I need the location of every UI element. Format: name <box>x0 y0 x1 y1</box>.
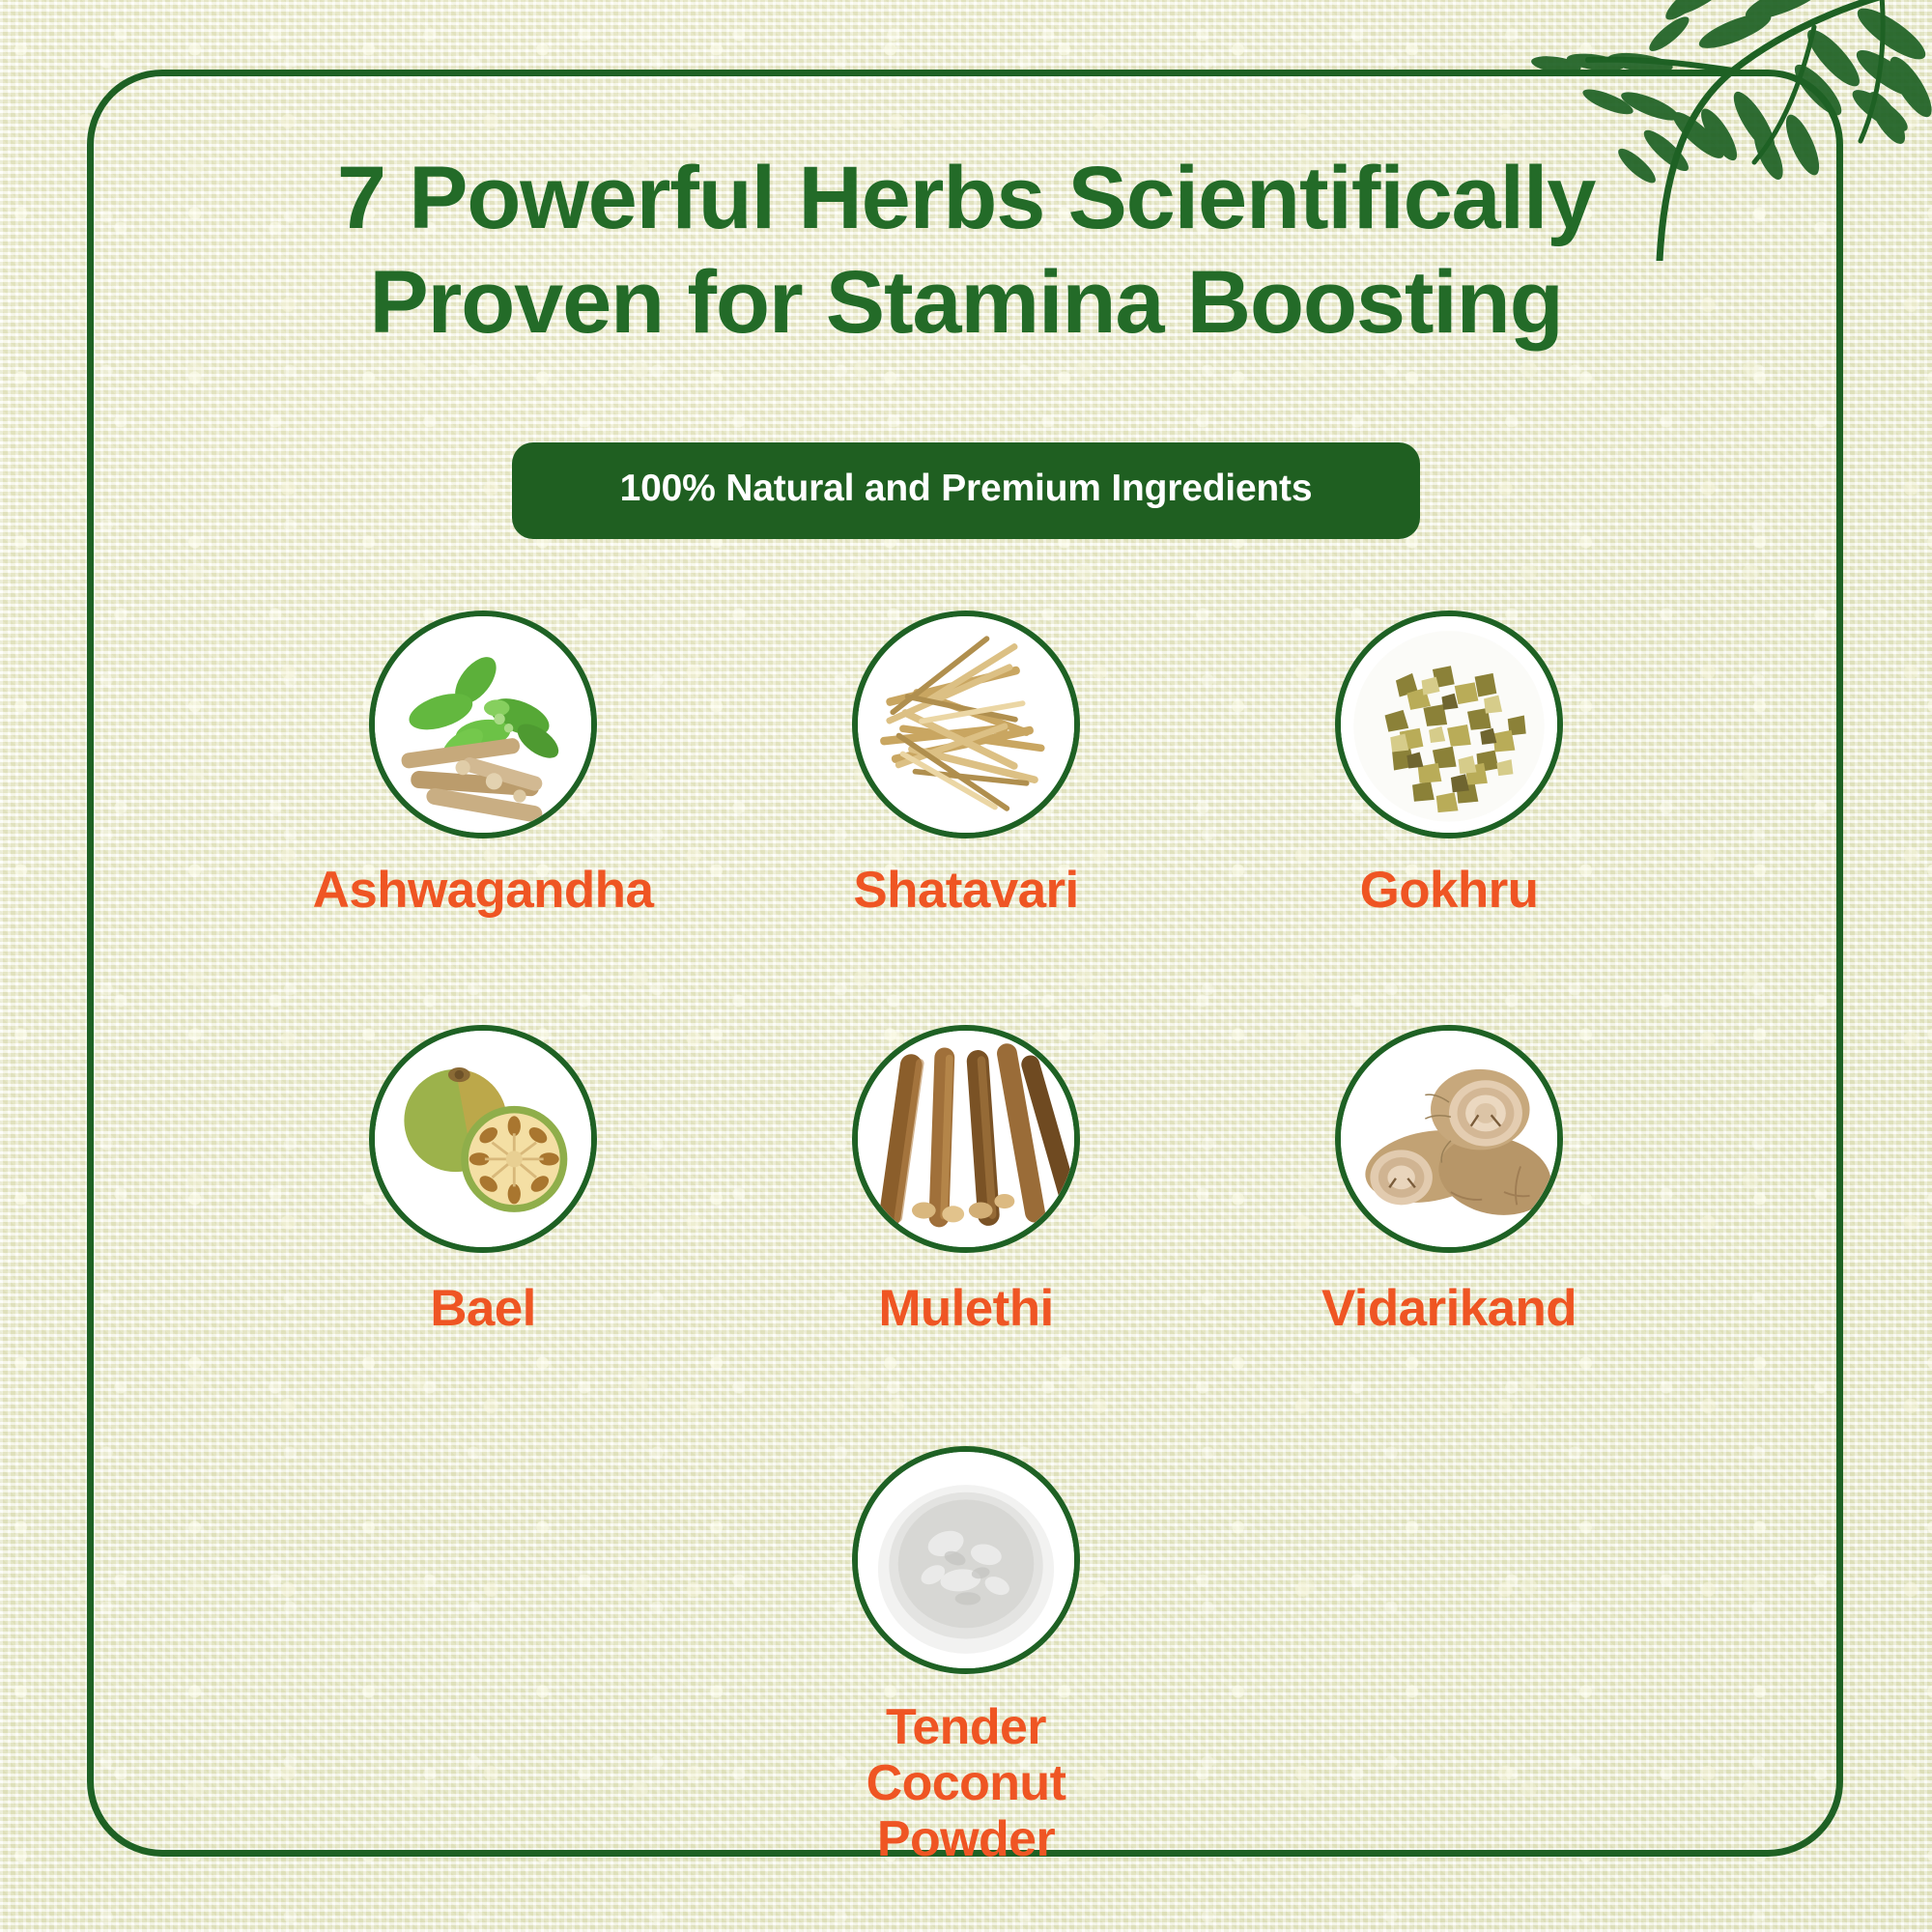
page-title: 7 Powerful Herbs Scientifically Proven f… <box>97 147 1835 355</box>
herb-item-gokhru: Gokhru <box>1285 611 1613 919</box>
herb-label-line-1: Tender Coconut <box>867 1699 1066 1811</box>
herb-item-mulethi: Mulethi <box>802 1025 1130 1337</box>
bael-fruit-whole-and-halved-image <box>375 1031 591 1247</box>
gokhru-dried-fruits-image <box>1341 616 1557 833</box>
herb-label-tender-coconut-powder: Tender Coconut Powder <box>802 1699 1130 1868</box>
herb-label-ashwagandha: Ashwagandha <box>313 862 654 919</box>
herb-item-vidarikand: Vidarikand <box>1285 1025 1613 1337</box>
natural-ingredients-badge: 100% Natural and Premium Ingredients <box>512 442 1420 539</box>
herb-row-3: Tender Coconut Powder <box>135 1446 1797 1868</box>
herb-item-tender-coconut-powder: Tender Coconut Powder <box>802 1446 1130 1868</box>
badge-container: 100% Natural and Premium Ingredients <box>0 442 1932 539</box>
vidarikand-sliced-root-image <box>1341 1031 1557 1247</box>
tender-coconut-powder-image <box>858 1452 1074 1668</box>
herb-label-line-2: Powder <box>877 1811 1055 1867</box>
herb-item-ashwagandha: Ashwagandha <box>319 611 647 919</box>
ashwagandha-roots-and-leaves-image <box>375 616 591 833</box>
gokhru-image-circle <box>1335 611 1563 838</box>
ashwagandha-image-circle <box>369 611 597 838</box>
shatavari-image-circle <box>852 611 1080 838</box>
herb-row-2: Bael <box>135 1025 1797 1337</box>
herb-item-bael: Bael <box>319 1025 647 1337</box>
tender-coconut-powder-image-circle <box>852 1446 1080 1674</box>
bael-image-circle <box>369 1025 597 1253</box>
herb-label-gokhru: Gokhru <box>1360 862 1539 919</box>
shatavari-dried-roots-image <box>858 616 1074 833</box>
mulethi-licorice-sticks-image <box>858 1031 1074 1247</box>
herb-label-shatavari: Shatavari <box>853 862 1078 919</box>
herb-label-mulethi: Mulethi <box>878 1280 1053 1337</box>
vidarikand-image-circle <box>1335 1025 1563 1253</box>
herb-label-vidarikand: Vidarikand <box>1321 1280 1577 1337</box>
headline-line-2: Proven for Stamina Boosting <box>97 251 1835 355</box>
mulethi-image-circle <box>852 1025 1080 1253</box>
herb-label-bael: Bael <box>430 1280 536 1337</box>
herb-item-shatavari: Shatavari <box>802 611 1130 919</box>
herb-row-1: Ashwagandha <box>135 611 1797 919</box>
headline-line-1: 7 Powerful Herbs Scientifically <box>337 149 1595 247</box>
herb-grid: Ashwagandha <box>135 611 1797 1867</box>
poster-canvas: 7 Powerful Herbs Scientifically Proven f… <box>0 0 1932 1932</box>
